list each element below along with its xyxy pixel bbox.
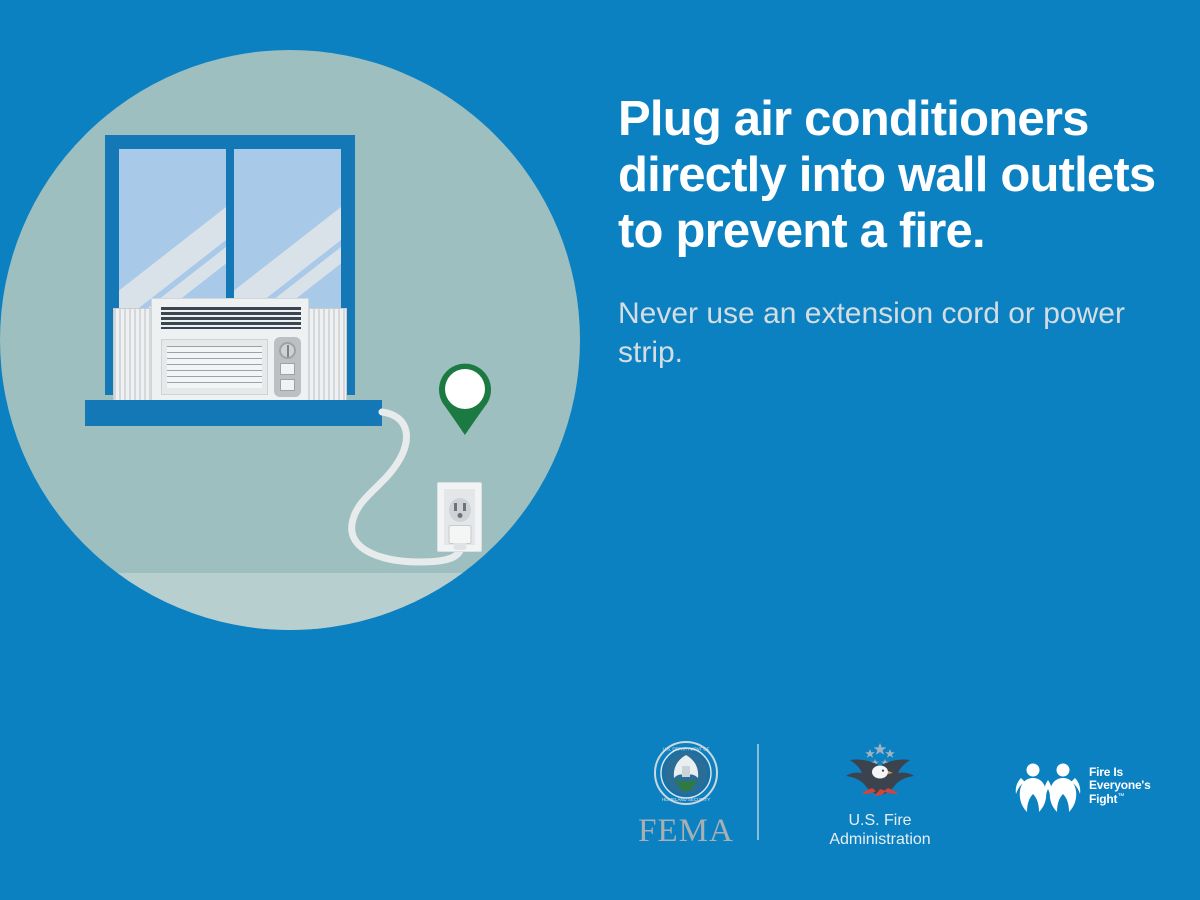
ac-side-panel-left (113, 308, 153, 403)
fief-line-3: Fight™ (1089, 793, 1151, 806)
green-check-pin-icon (430, 355, 500, 435)
footer-divider (757, 744, 759, 840)
trademark-symbol: ™ (1117, 793, 1124, 800)
ac-button-1 (280, 363, 295, 375)
plug-cord-neck (453, 543, 466, 550)
ac-body (151, 298, 309, 403)
svg-text:HOMELAND SECURITY: HOMELAND SECURITY (662, 797, 710, 802)
outlet-faceplate (444, 489, 475, 545)
poster-canvas: Plug air conditioners directly into wall… (0, 0, 1200, 900)
usfa-eagle-icon (840, 742, 920, 804)
wall-outlet (437, 482, 482, 552)
plug-body (448, 525, 471, 544)
fema-logo: U.S. DEPARTMENT OF HOMELAND SECURITY FEM… (616, 740, 756, 850)
fire-is-everyones-fight-logo: Fire Is Everyone's Fight™ (1015, 758, 1180, 814)
outlet-slot-right (463, 503, 466, 511)
ac-side-panel-right (307, 308, 347, 403)
outlet-socket-icon (449, 498, 471, 522)
ac-grill-louvers (167, 346, 262, 388)
illustration (0, 50, 580, 630)
text-column: Plug air conditioners directly into wall… (618, 92, 1158, 372)
fema-wordmark: FEMA (616, 813, 756, 850)
usfa-logo: U.S. Fire Administration (800, 742, 960, 850)
scene-circle (0, 50, 580, 630)
window-sill (85, 400, 382, 426)
fief-wordmark: Fire Is Everyone's Fight™ (1089, 766, 1151, 806)
subhead: Never use an extension cord or power str… (618, 294, 1158, 372)
outlet-slot-left (454, 503, 457, 511)
ac-control-panel (274, 337, 301, 397)
footer-logos: U.S. DEPARTMENT OF HOMELAND SECURITY FEM… (600, 740, 1180, 860)
outlet-ground-hole (457, 513, 462, 518)
dhs-seal-icon: U.S. DEPARTMENT OF HOMELAND SECURITY (653, 740, 719, 806)
air-conditioner-unit (113, 298, 347, 403)
ac-vent-slats (161, 307, 301, 329)
usfa-wordmark: U.S. Fire Administration (800, 812, 960, 850)
ac-front-grill (161, 339, 268, 395)
usfa-line-2: Administration (800, 831, 960, 850)
fief-line-3-text: Fight (1089, 792, 1117, 806)
fief-line-1: Fire Is (1089, 766, 1151, 779)
usfa-line-1: U.S. Fire (800, 812, 960, 831)
svg-text:U.S. DEPARTMENT OF: U.S. DEPARTMENT OF (663, 747, 710, 752)
fief-figures-icon (1015, 758, 1083, 814)
headline: Plug air conditioners directly into wall… (618, 92, 1158, 260)
fief-line-2: Everyone's (1089, 779, 1151, 792)
ac-button-2 (280, 379, 295, 391)
floor-band (0, 573, 580, 630)
ac-dial-knob-icon (279, 342, 296, 359)
